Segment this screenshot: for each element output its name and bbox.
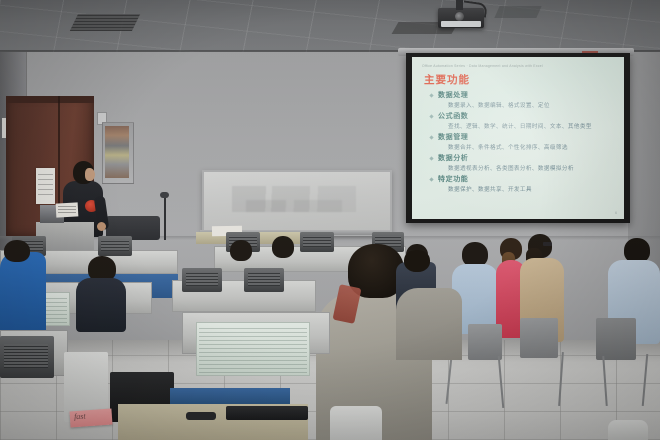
slide-header-text: Office Automation Series · Data Manageme… <box>422 64 614 68</box>
slide-section-detail: 数据合并、条件格式、个性化排序、高级筛选 <box>430 143 620 151</box>
wall-art-stripes <box>105 126 129 178</box>
student-blue-jacket-head <box>4 240 30 262</box>
student-dark-left-torso <box>76 278 126 332</box>
slide-section-heading: 特定功能 <box>430 174 620 184</box>
glasses-icon <box>543 242 552 246</box>
slide-section: 特定功能 数据保护、数据共享、开发工具 <box>430 174 620 193</box>
desk-blue-edge <box>170 388 290 404</box>
student-head <box>230 240 252 261</box>
ceiling-vent-icon <box>70 14 140 31</box>
microphone-icon <box>160 192 169 198</box>
slide-section: 数据管理 数据合并、条件格式、个性化排序、高级筛选 <box>430 132 620 151</box>
slide-section-detail: 数据录入、数据编辑、格式设置、定位 <box>430 101 620 109</box>
slide-section: 数据分析 数据透视表分析、各类图表分析、数据模拟分析 <box>430 153 620 172</box>
monitor-vent <box>303 236 331 247</box>
slide-section-heading: 数据分析 <box>430 153 620 163</box>
presentation-slide: Office Automation Series · Data Manageme… <box>412 57 624 219</box>
slide-page-number: 6 <box>615 211 617 215</box>
slide-section-detail: 查找、逻辑、数学、统计、日期时间、文本、其他类型 <box>430 122 620 130</box>
slide-section: 公式函数 查找、逻辑、数学、统计、日期时间、文本、其他类型 <box>430 111 620 130</box>
student-head <box>272 236 294 258</box>
slide-section-detail: 数据保护、数据共享、开发工具 <box>430 185 620 193</box>
monitor-vent <box>186 273 218 286</box>
monitor-vent <box>248 273 280 286</box>
cabinet-top-edge <box>6 96 94 103</box>
monitor-screen-near[interactable] <box>196 322 310 376</box>
student-front-shoulder <box>396 288 462 360</box>
instructor-hand <box>97 222 106 231</box>
folding-chair[interactable] <box>596 318 636 360</box>
folding-chair-seat[interactable] <box>608 420 648 440</box>
folding-chair[interactable] <box>468 324 502 360</box>
whiteboard-handwriting-line2 <box>246 200 342 212</box>
folding-chair[interactable] <box>520 318 558 358</box>
folding-chair-seat[interactable] <box>330 406 382 440</box>
monitor-vent <box>101 240 129 251</box>
slide-bullet-list: 数据处理 数据录入、数据编辑、格式设置、定位 公式函数 查找、逻辑、数学、统计、… <box>430 90 620 195</box>
instructor-face <box>85 168 95 181</box>
microphone-stand <box>164 196 166 240</box>
slide-title: 主要功能 <box>424 72 470 87</box>
slide-section-heading: 数据管理 <box>430 132 620 142</box>
mouse-cable <box>186 412 216 420</box>
ceiling-vent-secondary-icon <box>494 6 541 18</box>
student-blue-jacket-torso <box>0 252 46 338</box>
slide-section-detail: 数据透视表分析、各类图表分析、数据模拟分析 <box>430 164 620 172</box>
slide-section-heading: 数据处理 <box>430 90 620 100</box>
classroom-photo-scene: Office Automation Series · Data Manageme… <box>0 0 660 440</box>
podium-handout-text <box>58 206 76 213</box>
projection-screen-surface: Office Automation Series · Data Manageme… <box>412 57 624 219</box>
notice-text-lines <box>38 173 53 195</box>
monitor-vent <box>4 344 48 368</box>
slide-section-heading: 公式函数 <box>430 111 620 121</box>
keyboard[interactable] <box>226 406 308 420</box>
student-navy-collar-head <box>404 250 430 272</box>
slide-section: 数据处理 数据录入、数据编辑、格式设置、定位 <box>430 90 620 109</box>
